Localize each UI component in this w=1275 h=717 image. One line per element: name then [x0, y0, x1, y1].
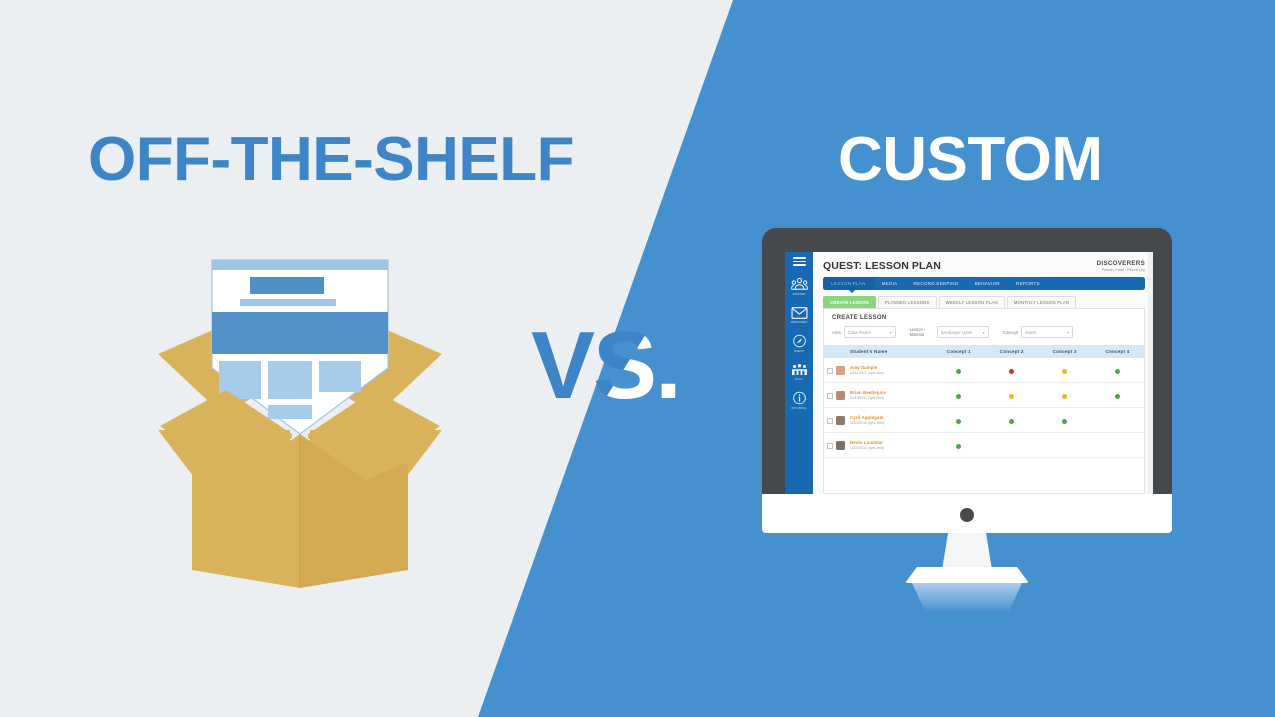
secondary-tabs: CREATE LESSON PLANNED LESSONS WEEKLY LES… [823, 296, 1145, 308]
app-sidebar: ROSTER MESSAGES [785, 252, 813, 494]
organization-name: DISCOVERERS [1097, 260, 1145, 267]
panel-title: CREATE LESSON [824, 309, 1144, 326]
concept-status-cell-4[interactable] [1091, 433, 1144, 458]
student-cell: Cyril Applegate12/22/2012 (4yrs 3mo) [850, 408, 932, 433]
status-dot-green[interactable] [1009, 419, 1014, 424]
concept-status-cell-1[interactable] [932, 433, 985, 458]
concept-status-cell-3[interactable] [1038, 358, 1091, 383]
status-dot-green[interactable] [1115, 369, 1120, 374]
chevron-down-icon: ▾ [1067, 330, 1069, 335]
status-dot-yellow[interactable] [1062, 369, 1067, 374]
table-row[interactable]: Cyril Applegate12/22/2012 (4yrs 3mo) [824, 408, 1144, 433]
nav-item-record-keeping[interactable]: RECORD KEEPING [905, 277, 966, 290]
avatar [836, 366, 845, 375]
monitor-chin [762, 494, 1172, 533]
sidebar-item-label: INCOMING [791, 407, 806, 411]
avatar-cell [836, 383, 850, 408]
avatar-cell [836, 433, 850, 458]
sidebar-item-label: DAILY [795, 378, 804, 382]
sidebar-item-label: ROSTER [793, 293, 805, 297]
select-value: Class Roster [848, 330, 871, 335]
concept-status-cell-4[interactable] [1091, 383, 1144, 408]
status-dot-green[interactable] [956, 394, 961, 399]
nav-item-lesson-plan[interactable]: LESSON PLAN [823, 277, 874, 290]
concept-status-cell-1[interactable] [932, 408, 985, 433]
concept-status-cell-2[interactable] [985, 433, 1038, 458]
table-row[interactable]: Amy Sample02/11/2012 (4yrs 4mo) [824, 358, 1144, 383]
row-checkbox[interactable] [827, 443, 833, 449]
avatar [836, 416, 845, 425]
column-header-name: Student's Name [824, 345, 932, 358]
monitor-screen: ROSTER MESSAGES [785, 252, 1153, 494]
quest-icon [791, 334, 808, 348]
comparison-graphic: OFF-THE-SHELF CUSTOM VS. VS. [0, 0, 1275, 717]
status-dot-green[interactable] [956, 444, 961, 449]
sidebar-item-messages[interactable]: MESSAGES [785, 306, 813, 326]
student-cell: Devin Lonestar12/22/2012 (4yrs 3mo) [850, 433, 932, 458]
active-nav-caret-icon [849, 290, 855, 293]
nav-item-behavior[interactable]: BEHAVIOR [967, 277, 1008, 290]
concept-status-cell-3[interactable] [1038, 383, 1091, 408]
status-dot-green[interactable] [956, 369, 961, 374]
row-checkbox-cell[interactable] [824, 433, 836, 458]
monitor-stand-base [905, 567, 1029, 583]
student-cell: Brian Beetlejuce01/13/2012 (4yrs 6mo) [850, 383, 932, 408]
lesson-material-select[interactable]: Sandpaper Letter ▾ [937, 326, 989, 338]
concept-status-cell-2[interactable] [985, 408, 1038, 433]
concept-status-cell-2[interactable] [985, 358, 1038, 383]
open-box-illustration [150, 248, 450, 588]
tab-planned-lessons[interactable]: PLANNED LESSONS [878, 296, 937, 308]
student-dob-age: 01/13/2012 (4yrs 6mo) [850, 396, 932, 400]
avatar [836, 441, 845, 450]
concept-status-cell-3[interactable] [1038, 433, 1091, 458]
row-checkbox[interactable] [827, 368, 833, 374]
sidebar-item-roster[interactable]: ROSTER [785, 277, 813, 297]
monitor-logo-dot [960, 508, 974, 522]
chevron-down-icon: ▾ [890, 330, 892, 335]
messages-icon [791, 306, 808, 320]
daily-icon [791, 363, 808, 377]
select-value: Select [1025, 330, 1036, 335]
field-label: Lesson / Material [910, 327, 934, 337]
table-row[interactable]: Brian Beetlejuce01/13/2012 (4yrs 6mo) [824, 383, 1144, 408]
filter-row: Area Class Roster ▾ Lesson / Material Sa… [824, 326, 1144, 345]
student-dob-age: 12/22/2012 (4yrs 3mo) [850, 446, 932, 450]
monitor-stand-neck [942, 533, 992, 570]
row-checkbox-cell[interactable] [824, 358, 836, 383]
student-name-link[interactable]: Amy Sample [850, 365, 932, 370]
monitor-reflection [912, 583, 1022, 613]
student-name-link[interactable]: Devin Lonestar [850, 440, 932, 445]
avatar-cell [836, 358, 850, 383]
field-label: Area [832, 330, 841, 335]
column-header-concept-3: Concept 3 [1038, 345, 1091, 358]
tab-weekly-lesson-plan[interactable]: WEEKLY LESSON PLAN [939, 296, 1005, 308]
student-dob-age: 12/22/2012 (4yrs 3mo) [850, 421, 932, 425]
page-title-custom: CUSTOM [838, 124, 1103, 195]
concept-status-cell-2[interactable] [985, 383, 1038, 408]
page-title-off-the-shelf: OFF-THE-SHELF [88, 124, 574, 195]
table-body: Amy Sample02/11/2012 (4yrs 4mo)Brian Bee… [824, 358, 1144, 458]
student-dob-age: 02/11/2012 (4yrs 4mo) [850, 371, 932, 375]
sidebar-item-label: MESSAGES [791, 321, 808, 325]
avatar-cell [836, 408, 850, 433]
concept-status-cell-1[interactable] [932, 383, 985, 408]
concept-select[interactable]: Select ▾ [1021, 326, 1073, 338]
field-area: Area Class Roster ▾ [832, 326, 896, 338]
organization-block: DISCOVERERS Primary Class / Ellicott Cit… [1097, 260, 1145, 272]
status-dot-green[interactable] [1115, 394, 1120, 399]
app-window: ROSTER MESSAGES [785, 252, 1153, 494]
nav-item-reports[interactable]: REPORTS [1008, 277, 1048, 290]
primary-nav: LESSON PLAN MEDIA RECORD KEEPING BEHAVIO… [823, 277, 1145, 290]
roster-icon [791, 277, 808, 291]
status-dot-yellow[interactable] [1062, 394, 1067, 399]
status-dot-red[interactable] [1009, 369, 1014, 374]
app-header: QUEST: LESSON PLAN DISCOVERERS Primary C… [813, 252, 1153, 276]
incoming-icon [791, 391, 808, 405]
versus-label: VS. VS. [531, 318, 711, 418]
tab-monthly-lesson-plan[interactable]: MONTHLY LESSON PLAN [1007, 296, 1076, 308]
status-dot-green[interactable] [956, 419, 961, 424]
tab-create-lesson[interactable]: CREATE LESSON [823, 296, 876, 308]
sidebar-item-label: QUEST [794, 350, 804, 354]
column-header-concept-2: Concept 2 [985, 345, 1038, 358]
app-page-title: QUEST: LESSON PLAN [823, 260, 941, 272]
hamburger-menu-icon[interactable] [793, 257, 806, 266]
row-checkbox-cell[interactable] [824, 408, 836, 433]
organization-subtitle: Primary Class / Ellicott City [1097, 268, 1145, 272]
student-cell: Amy Sample02/11/2012 (4yrs 4mo) [850, 358, 932, 383]
table-row[interactable]: Devin Lonestar12/22/2012 (4yrs 3mo) [824, 433, 1144, 458]
avatar [836, 391, 845, 400]
chevron-down-icon: ▾ [983, 330, 985, 335]
student-name-link[interactable]: Brian Beetlejuce [850, 390, 932, 395]
students-table: Student's Name Concept 1 Concept 2 Conce… [824, 345, 1144, 458]
app-main: QUEST: LESSON PLAN DISCOVERERS Primary C… [813, 252, 1153, 494]
select-value: Sandpaper Letter [941, 330, 973, 335]
student-name-link[interactable]: Cyril Applegate [850, 415, 932, 420]
row-checkbox-cell[interactable] [824, 383, 836, 408]
concept-status-cell-4[interactable] [1091, 408, 1144, 433]
create-lesson-panel: CREATE LESSON Area Class Roster ▾ Lesso [823, 308, 1145, 494]
row-checkbox[interactable] [827, 393, 833, 399]
status-dot-yellow[interactable] [1009, 394, 1014, 399]
desktop-monitor: ROSTER MESSAGES [762, 228, 1172, 533]
status-dot-green[interactable] [1062, 419, 1067, 424]
field-label: Concept [1003, 330, 1018, 335]
sidebar-item-quest[interactable]: QUEST [785, 334, 813, 354]
field-lesson-material: Lesson / Material Sandpaper Letter ▾ [910, 326, 989, 338]
table-header: Student's Name Concept 1 Concept 2 Conce… [824, 345, 1144, 358]
column-header-concept-4: Concept 4 [1091, 345, 1144, 358]
concept-status-cell-1[interactable] [932, 358, 985, 383]
nav-item-media[interactable]: MEDIA [874, 277, 906, 290]
concept-status-cell-4[interactable] [1091, 358, 1144, 383]
sidebar-item-daily[interactable]: DAILY [785, 363, 813, 383]
area-select[interactable]: Class Roster ▾ [844, 326, 896, 338]
column-header-concept-1: Concept 1 [932, 345, 985, 358]
concept-status-cell-3[interactable] [1038, 408, 1091, 433]
sidebar-item-incoming[interactable]: INCOMING [785, 391, 813, 411]
field-concept: Concept Select ▾ [1003, 326, 1073, 338]
row-checkbox[interactable] [827, 418, 833, 424]
